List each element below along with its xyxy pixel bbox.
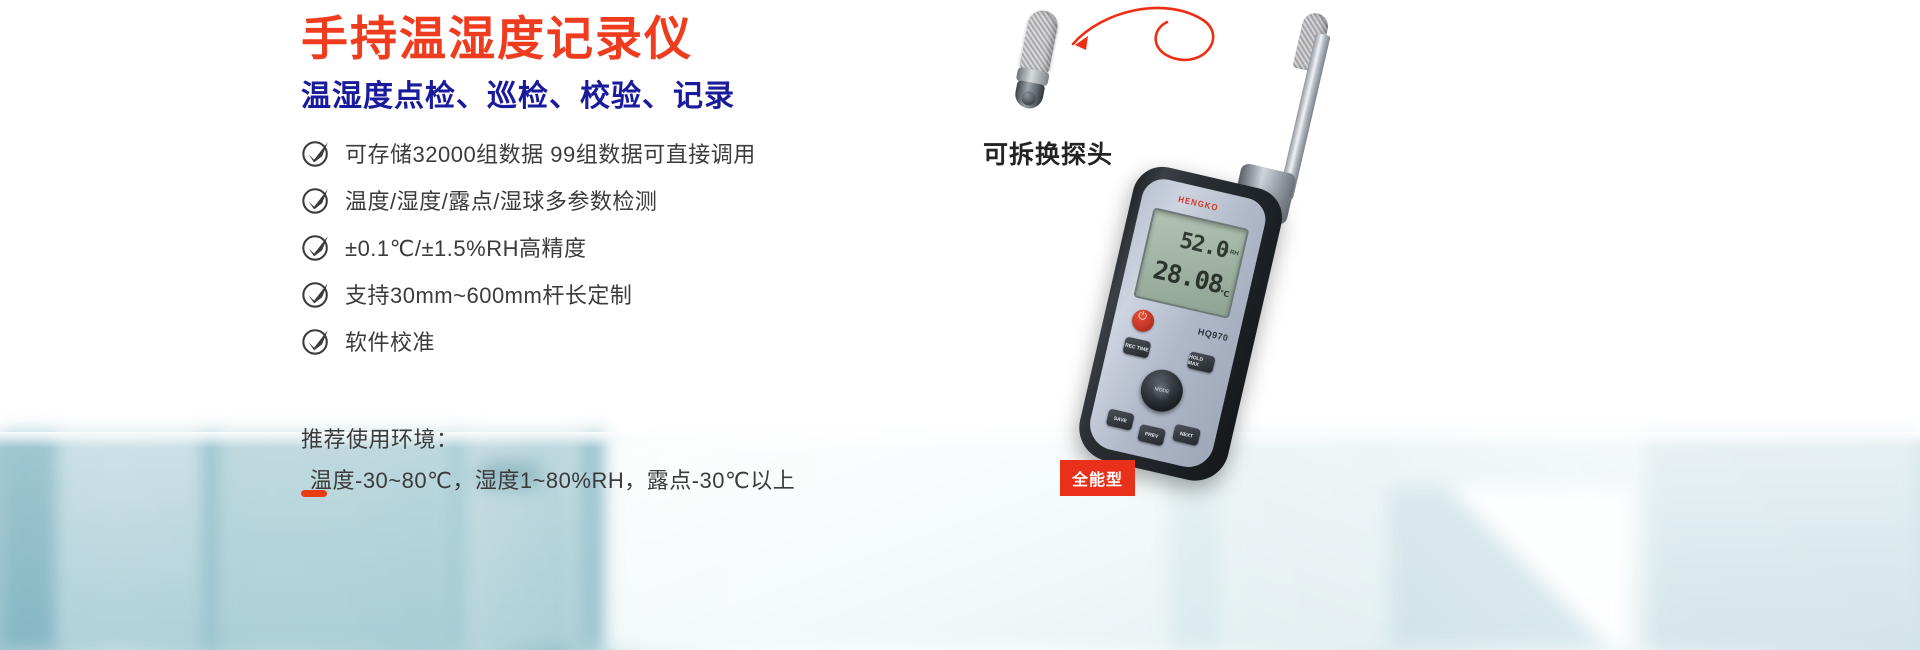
feature-text: 温度/湿度/露点/湿球多参数检测 <box>345 184 657 216</box>
device-brand-label: HENGKO <box>1177 194 1219 213</box>
bg-shape <box>1390 487 1630 647</box>
bg-shape <box>0 432 60 650</box>
device-lcd-screen: 52.0 % RH 28.08 ℃ <box>1133 207 1249 319</box>
feature-list: 可存储32000组数据 99组数据可直接调用 温度/湿度/露点/湿球多参数检测 … <box>301 132 1001 367</box>
device-key[interactable]: SAVE <box>1106 408 1135 430</box>
feature-text: 软件校准 <box>345 325 435 357</box>
power-icon[interactable] <box>1130 308 1156 334</box>
lcd-temperature-value: 28.08 <box>1150 255 1225 299</box>
bg-shape <box>1647 432 1920 650</box>
environment-label: 推荐使用环境： <box>301 422 459 454</box>
lcd-humidity-value: 52.0 <box>1177 228 1230 263</box>
device-body: HENGKO 52.0 % RH 28.08 ℃ HQ970 REC TIME … <box>1072 161 1288 488</box>
product-badge: 全能型 <box>1060 460 1135 496</box>
banner-subtitle: 温湿度点检、巡检、校验、记录 <box>301 79 735 115</box>
device-key[interactable]: HOLD MAX <box>1187 351 1216 373</box>
bg-shape <box>60 432 210 650</box>
circled-check-icon <box>301 232 331 262</box>
product-banner: 手持温湿度记录仪 温湿度点检、巡检、校验、记录 可存储32000组数据 99组数… <box>0 0 1920 650</box>
list-item: ±0.1℃/±1.5%RH高精度 <box>301 226 1001 268</box>
environment-value: 温度-30~80℃，湿度1~80%RH，露点-30℃以上 <box>310 463 795 495</box>
circled-check-icon <box>301 138 331 168</box>
device-key[interactable]: REC TIME <box>1122 336 1151 358</box>
feature-text: ±0.1℃/±1.5%RH高精度 <box>345 231 586 263</box>
circled-check-icon <box>301 279 331 309</box>
lcd-temperature-unit: ℃ <box>1219 288 1230 299</box>
device-key[interactable]: NEXT <box>1172 424 1201 446</box>
device-key[interactable]: MODE <box>1151 380 1173 402</box>
list-item: 温度/湿度/露点/湿球多参数检测 <box>301 179 1001 221</box>
list-item: 支持30mm~600mm杆长定制 <box>301 273 1001 315</box>
device-model-label: HQ970 <box>1197 326 1229 343</box>
circled-check-icon <box>301 185 331 215</box>
list-item: 可存储32000组数据 99组数据可直接调用 <box>301 132 1001 174</box>
banner-title: 手持温湿度记录仪 <box>301 13 693 65</box>
background-photo-band <box>0 432 1920 650</box>
feature-text: 可存储32000组数据 99组数据可直接调用 <box>345 137 756 169</box>
band-fade <box>0 432 1920 448</box>
list-item: 软件校准 <box>301 320 1001 362</box>
product-device-image: HENGKO 52.0 % RH 28.08 ℃ HQ970 REC TIME … <box>1020 0 1380 520</box>
bg-shape <box>205 432 220 650</box>
device-dpad[interactable]: MODE <box>1137 366 1187 416</box>
device-key[interactable]: PREV <box>1137 424 1166 446</box>
circled-check-icon <box>301 326 331 356</box>
device-keypad: REC TIME HOLD MAX MODE SAVE PREV NEXT <box>1097 335 1221 465</box>
device-front-panel: HENGKO 52.0 % RH 28.08 ℃ HQ970 REC TIME … <box>1085 175 1270 472</box>
feature-text: 支持30mm~600mm杆长定制 <box>345 278 632 310</box>
